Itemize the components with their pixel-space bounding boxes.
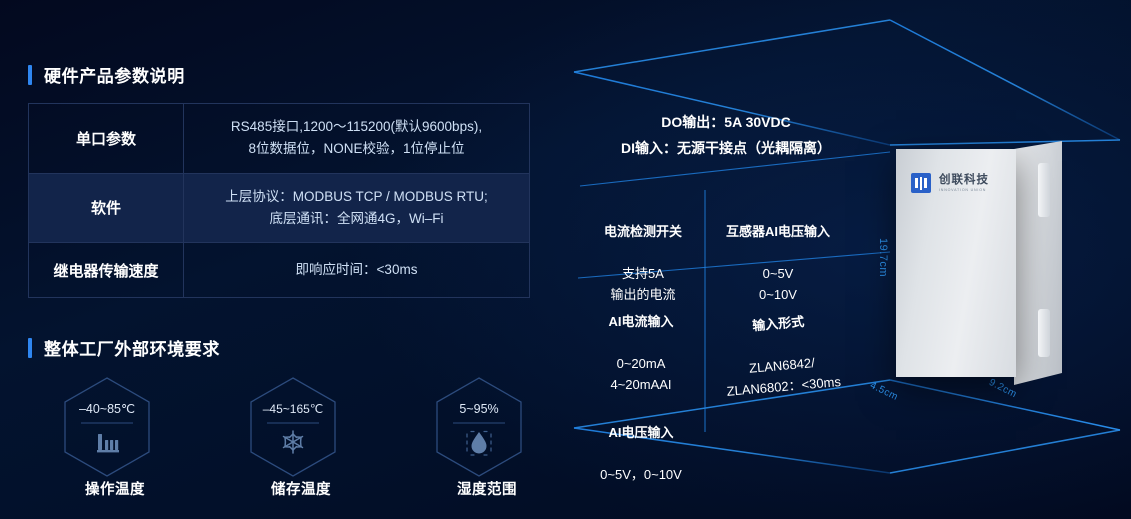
- title-accent-bar: [28, 65, 32, 85]
- brand-mark-icon: [911, 173, 931, 193]
- cell-lines: ZLAN6842/ ZLAN6802：<30ms: [708, 349, 857, 404]
- hex-range-text: 5~95%: [459, 402, 498, 416]
- environment-item-storage-temperature: –45~165℃: [200, 376, 386, 499]
- spec-key: 继电器传输速度: [29, 243, 184, 297]
- hardware-title-text: 硬件产品参数说明: [44, 62, 185, 87]
- cell-lines: 0~20mA 4~20mAAI: [582, 353, 700, 395]
- hexagon-outline: [437, 378, 521, 476]
- table-row: 单口参数 RS485接口,1200～115200(默认9600bps), 8位数…: [29, 104, 529, 173]
- hex-range-text: –40~85℃: [79, 402, 135, 416]
- cell-title: 互感器AI电压输入: [710, 221, 846, 242]
- factory-icon: [97, 434, 119, 452]
- brand-name-en: INNOVATION UNION: [939, 188, 989, 192]
- hex-label: 湿度范围: [457, 482, 517, 498]
- environment-item-operating-temperature: –40~85℃ 操作温度: [14, 376, 200, 499]
- logo-bar: [920, 177, 923, 190]
- hex-label-box: 储存温度: [200, 478, 386, 499]
- diagram-cell-ai-inputs: AI电流输入 0~20mA 4~20mAAI AI电压输入 0~5V，0~10V: [582, 290, 700, 506]
- spec-table: 单口参数 RS485接口,1200～115200(默认9600bps), 8位数…: [28, 103, 530, 298]
- device-photo: 创联科技 INNOVATION UNION: [896, 141, 1062, 391]
- dimension-height-label: 19.7cm: [877, 238, 889, 277]
- spec-value: 即响应时间：<30ms: [184, 243, 529, 297]
- hexagon-outline: [65, 378, 149, 476]
- spec-key: 单口参数: [29, 104, 184, 173]
- hex-badge: 5~95%: [433, 376, 525, 478]
- title-accent-bar: [28, 338, 32, 358]
- page-root: 硬件产品参数说明 单口参数 RS485接口,1200～115200(默认9600…: [0, 0, 1131, 519]
- hexagon-outline: [251, 378, 335, 476]
- brand-name-cn: 创联科技: [939, 174, 989, 186]
- table-row: 软件 上层协议：MODBUS TCP / MODBUS RTU; 底层通讯：全网…: [29, 173, 529, 243]
- environment-section-title: 整体工厂外部环境要求: [28, 335, 220, 360]
- hardware-section-title: 硬件产品参数说明: [28, 62, 185, 87]
- environment-title-text: 整体工厂外部环境要求: [44, 335, 220, 360]
- table-row: 继电器传输速度 即响应时间：<30ms: [29, 242, 529, 297]
- spec-value: 上层协议：MODBUS TCP / MODBUS RTU; 底层通讯：全网通4G…: [184, 174, 529, 243]
- brand-text-group: 创联科技 INNOVATION UNION: [939, 174, 989, 192]
- hex-range-text: –45~165℃: [263, 402, 324, 416]
- cell-title: AI电流输入: [582, 311, 700, 332]
- hex-label: 储存温度: [271, 482, 331, 498]
- logo-bar: [924, 178, 927, 188]
- diagram-cell-input-form: 输入形式 ZLAN6842/ ZLAN6802：<30ms: [703, 286, 859, 425]
- cell-title: 输入形式: [705, 307, 852, 341]
- hex-label-box: 操作温度: [14, 478, 200, 499]
- device-handle-top: [1038, 163, 1050, 217]
- device-front-panel: 创联科技 INNOVATION UNION: [896, 149, 1016, 377]
- diagram-header-text: DO输出：5A 30VDC DI输入：无源干接点（光耦隔离）: [576, 110, 876, 162]
- environment-item-humidity-range: 5~95%: [386, 376, 572, 499]
- left-column: 硬件产品参数说明 单口参数 RS485接口,1200～115200(默认9600…: [0, 0, 580, 519]
- snowflake-icon: [284, 431, 303, 453]
- logo-bar: [915, 178, 918, 188]
- environment-hex-row: –40~85℃ 操作温度: [14, 376, 574, 499]
- hex-label: 操作温度: [85, 482, 145, 498]
- cell-title: 电流检测开关: [584, 221, 702, 242]
- spec-value: RS485接口,1200～115200(默认9600bps), 8位数据位，NO…: [184, 104, 529, 173]
- device-handle-bottom: [1038, 309, 1050, 357]
- hex-badge: –45~165℃: [247, 376, 339, 478]
- cell-lines-2: 0~5V，0~10V: [582, 464, 700, 485]
- hex-label-box: 湿度范围: [386, 478, 572, 499]
- device-brand-logo: 创联科技 INNOVATION UNION: [911, 173, 989, 193]
- hex-badge: –40~85℃: [61, 376, 153, 478]
- cell-title-2: AI电压输入: [582, 422, 700, 443]
- spec-key: 软件: [29, 174, 184, 243]
- right-column-3d-diagram: DO输出：5A 30VDC DI输入：无源干接点（光耦隔离） 电流检测开关 支持…: [560, 0, 1131, 519]
- humidity-drop-icon: [467, 432, 491, 456]
